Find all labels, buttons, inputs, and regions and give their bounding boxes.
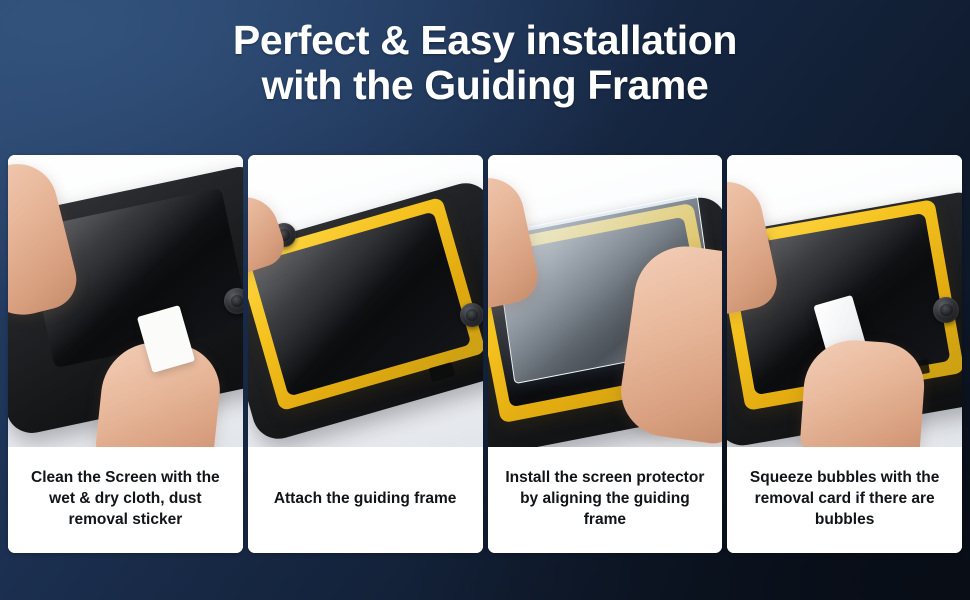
step-card-2: Attach the guiding frame: [248, 155, 483, 553]
promo-banner: Perfect & Easy installation with the Gui…: [0, 0, 970, 600]
step-2-caption: Attach the guiding frame: [248, 447, 483, 553]
page-title: Perfect & Easy installation with the Gui…: [0, 18, 970, 108]
step-4-photo: [727, 155, 962, 447]
step-3-caption: Install the screen protector by aligning…: [488, 447, 723, 553]
right-thumbstick: [460, 303, 483, 327]
step-3-photo: [488, 155, 723, 447]
step-4-caption: Squeeze bubbles with the removal card if…: [727, 447, 962, 553]
right-thumbstick: [224, 288, 243, 314]
step-1-caption: Clean the Screen with the wet & dry clot…: [8, 447, 243, 553]
step-card-list: Clean the Screen with the wet & dry clot…: [8, 155, 962, 553]
step-2-photo: [248, 155, 483, 447]
step-card-4: Squeeze bubbles with the removal card if…: [727, 155, 962, 553]
step-card-3: Install the screen protector by aligning…: [488, 155, 723, 553]
title-line-2: with the Guiding Frame: [0, 63, 970, 108]
step-1-photo: [8, 155, 243, 447]
step-card-1: Clean the Screen with the wet & dry clot…: [8, 155, 243, 553]
right-hand: [799, 337, 927, 447]
title-line-1: Perfect & Easy installation: [233, 17, 737, 63]
